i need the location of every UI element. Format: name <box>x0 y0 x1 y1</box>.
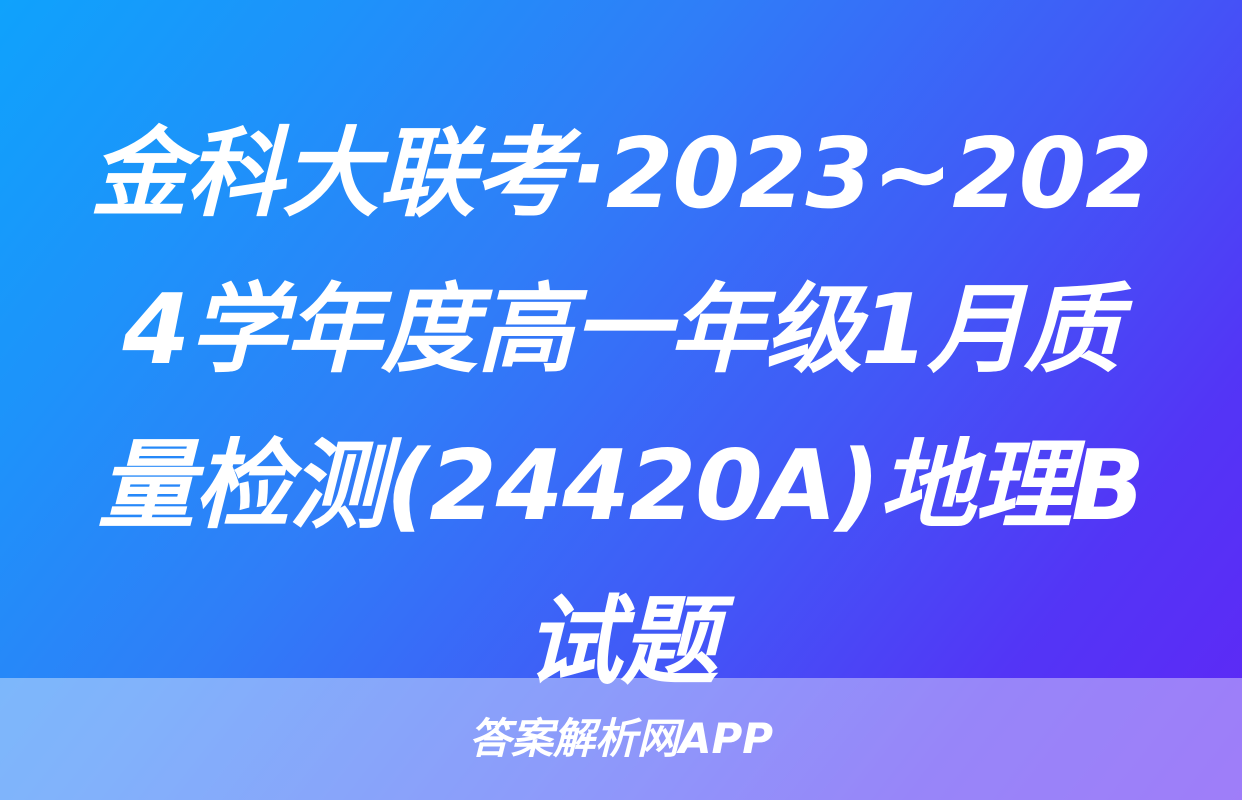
page-title: 金科大联考·2023~2024学年度高一年级1月质量检测(24420A)地理B试… <box>82 96 1160 720</box>
title-block: 金科大联考·2023~2024学年度高一年级1月质量检测(24420A)地理B试… <box>0 96 1242 720</box>
exam-cover-card: 金科大联考·2023~2024学年度高一年级1月质量检测(24420A)地理B试… <box>0 0 1242 800</box>
watermark-brand-label: 答案解析网APP <box>469 718 773 760</box>
watermark-band: 答案解析网APP <box>0 678 1242 800</box>
